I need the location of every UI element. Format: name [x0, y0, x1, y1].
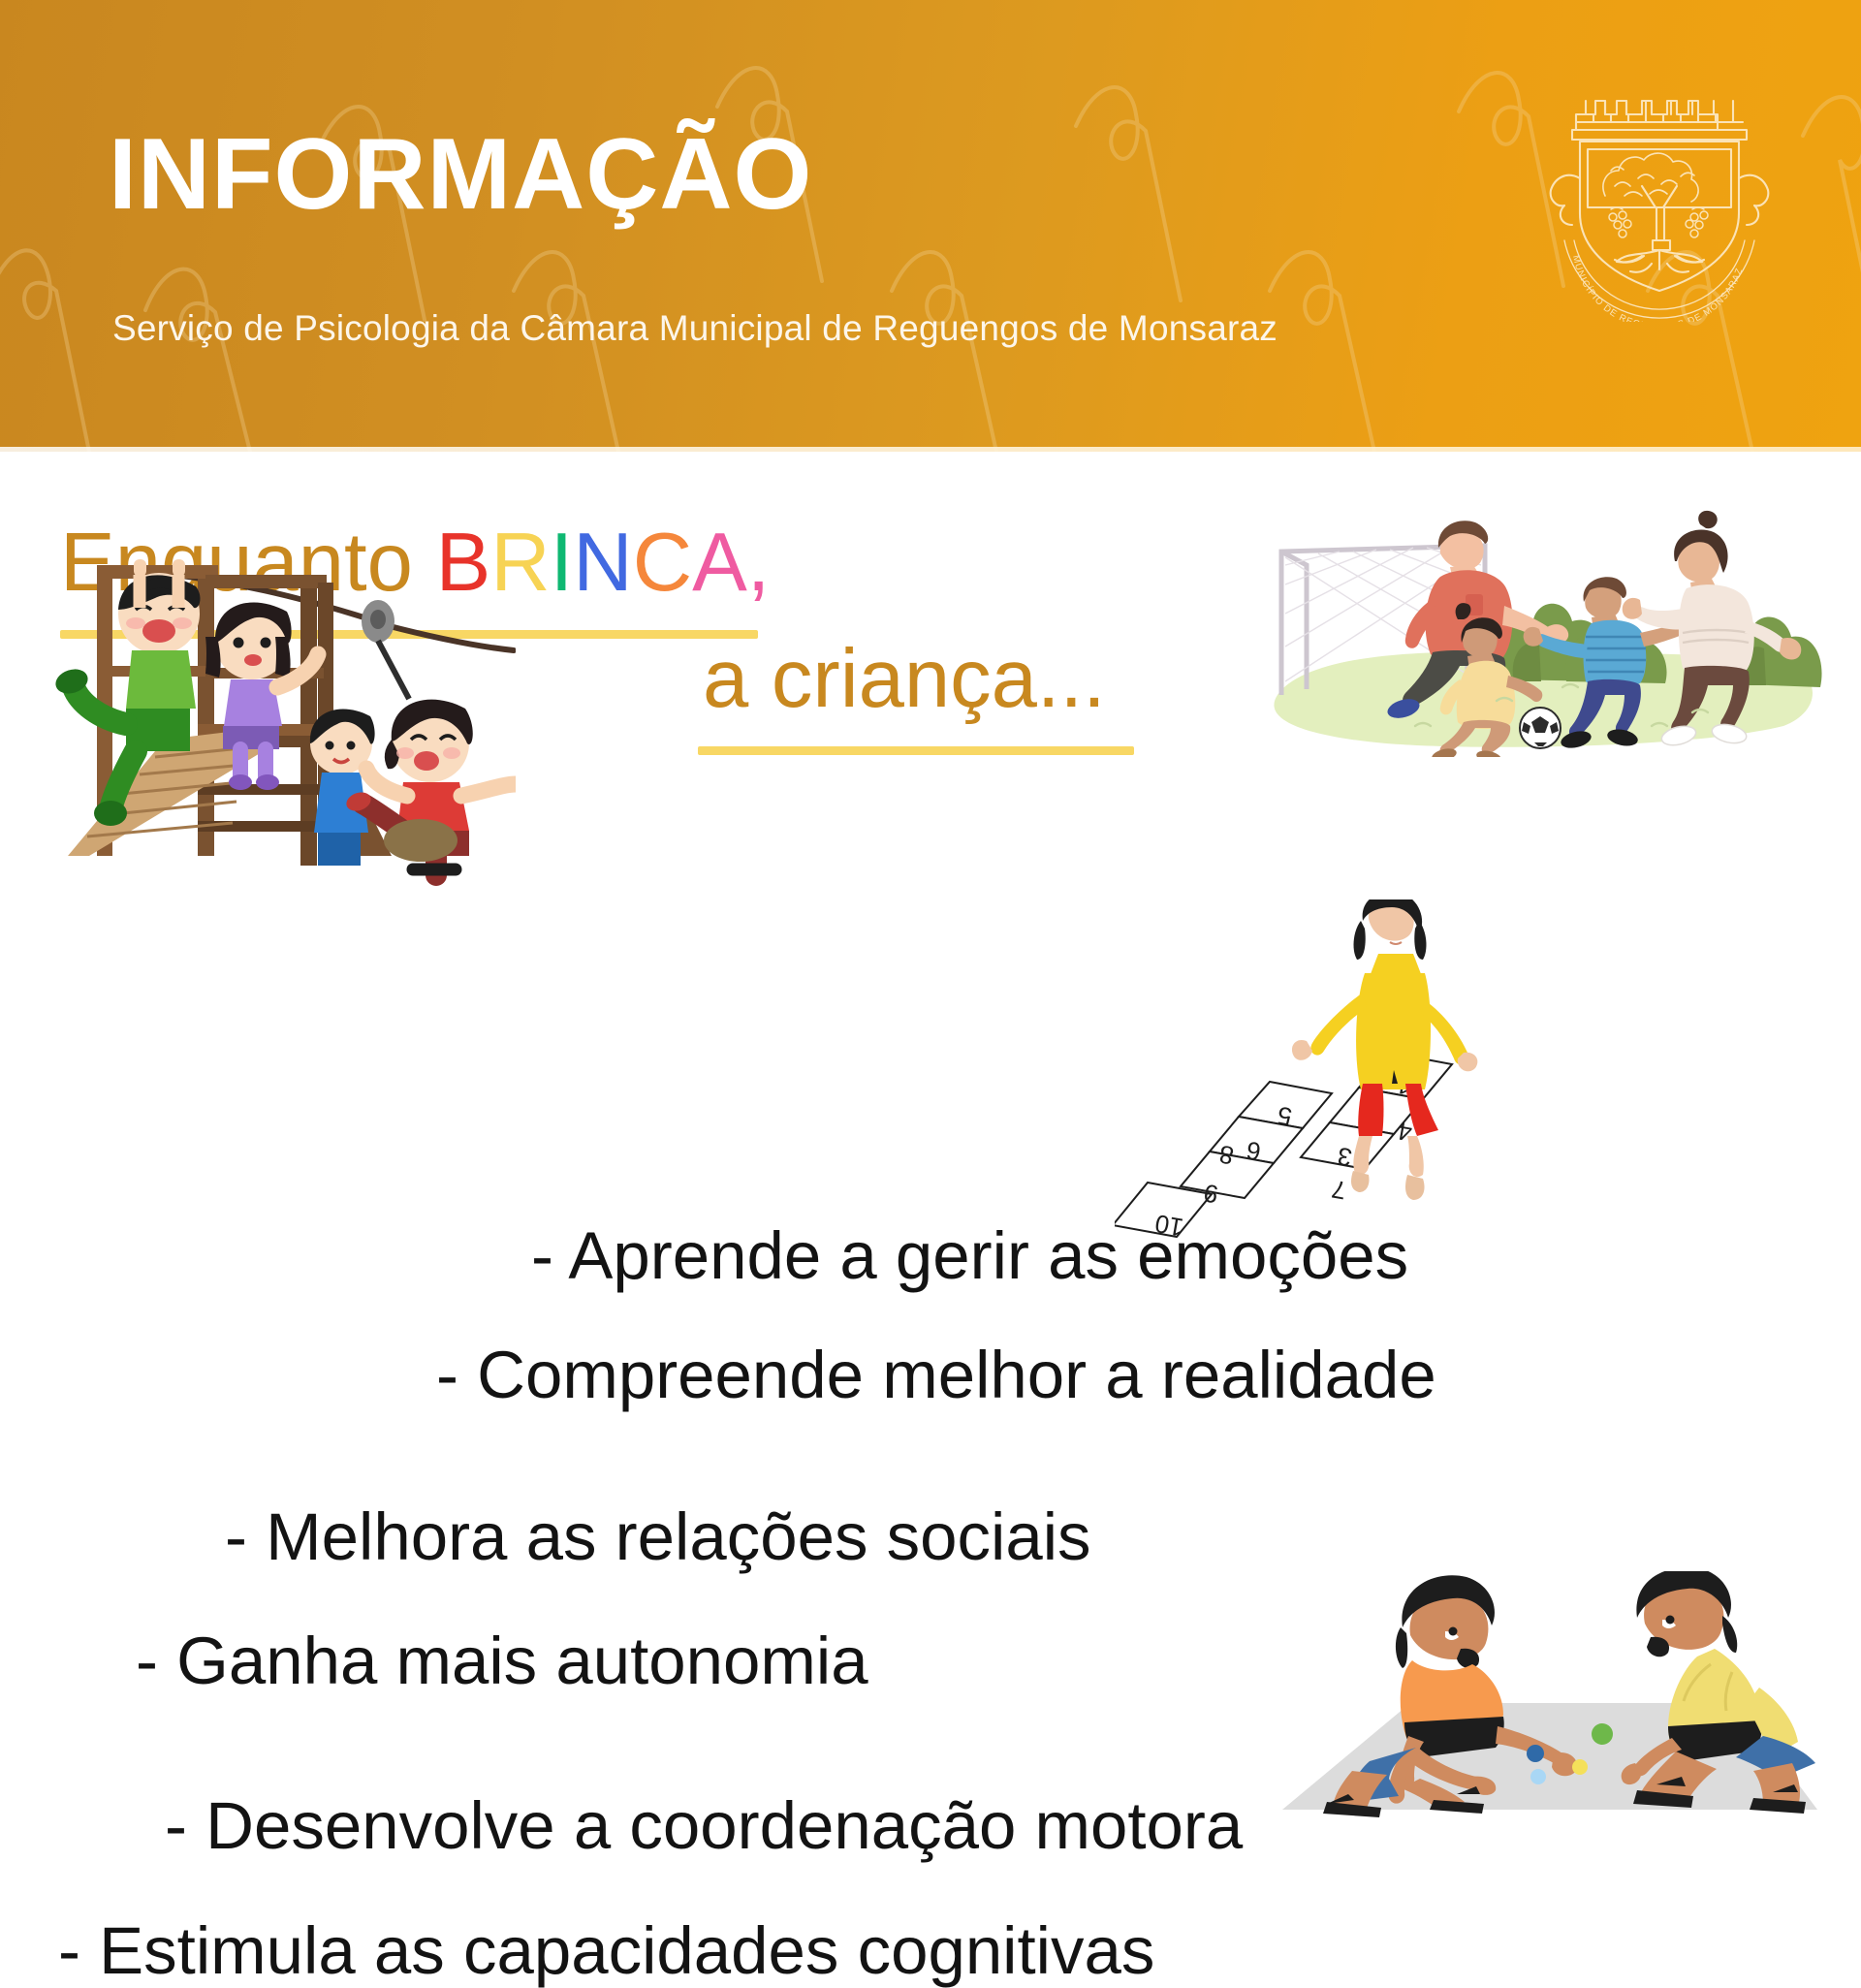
- hopscotch-illustration: 1 2 3 4 5 6 7 8 9 10: [1115, 899, 1483, 1287]
- bullet-item: - Estimula as capacidades cognitivas: [58, 1917, 1154, 1984]
- marble-light-blue: [1530, 1769, 1546, 1784]
- page-title: INFORMAÇÃO: [109, 124, 812, 225]
- headline-line-2: a criança...: [703, 638, 1106, 720]
- brinca-letter-c: C: [633, 517, 692, 609]
- bullet-item: - Ganha mais autonomia: [136, 1627, 868, 1694]
- svg-text:MUNICÍPIO DE REGUENGOS DE MONS: MUNICÍPIO DE REGUENGOS DE MONSARAZ: [1570, 254, 1746, 322]
- brinca-letter-n: N: [573, 517, 632, 609]
- brinca-letter-i: I: [551, 517, 574, 609]
- bullet-item: - Compreende melhor a realidade: [436, 1341, 1436, 1408]
- marble-blue: [1527, 1745, 1544, 1762]
- playground-illustration: [50, 553, 516, 893]
- bullet-item: - Melhora as relações sociais: [225, 1503, 1091, 1570]
- content-area: Enquanto BRINCA, a criança... - Aprende …: [0, 452, 1861, 1861]
- headline-line-2-underline: [698, 746, 1134, 755]
- bullet-item: - Desenvolve a coordenação motora: [165, 1792, 1243, 1859]
- page-subtitle: Serviço de Psicologia da Câmara Municipa…: [112, 308, 1277, 349]
- page-header: INFORMAÇÃO Serviço de Psicologia da Câma…: [0, 0, 1861, 452]
- municipal-coat-of-arms-icon: MUNICÍPIO DE REGUENGOS DE MONSARAZ: [1547, 70, 1772, 322]
- marble-green: [1592, 1723, 1613, 1745]
- headline-line-2-text: a criança...: [703, 633, 1106, 725]
- crest-legend-text: MUNICÍPIO DE REGUENGOS DE MONSARAZ: [1570, 254, 1746, 322]
- marble-yellow: [1572, 1759, 1588, 1775]
- brinca-comma: ,: [747, 517, 771, 609]
- hopscotch-number: 10: [1152, 1209, 1185, 1243]
- hopscotch-number: 7: [1330, 1175, 1348, 1206]
- marbles-illustration: [1255, 1571, 1846, 1852]
- family-soccer-illustration: [1260, 505, 1832, 757]
- brinca-letter-a: A: [692, 517, 747, 609]
